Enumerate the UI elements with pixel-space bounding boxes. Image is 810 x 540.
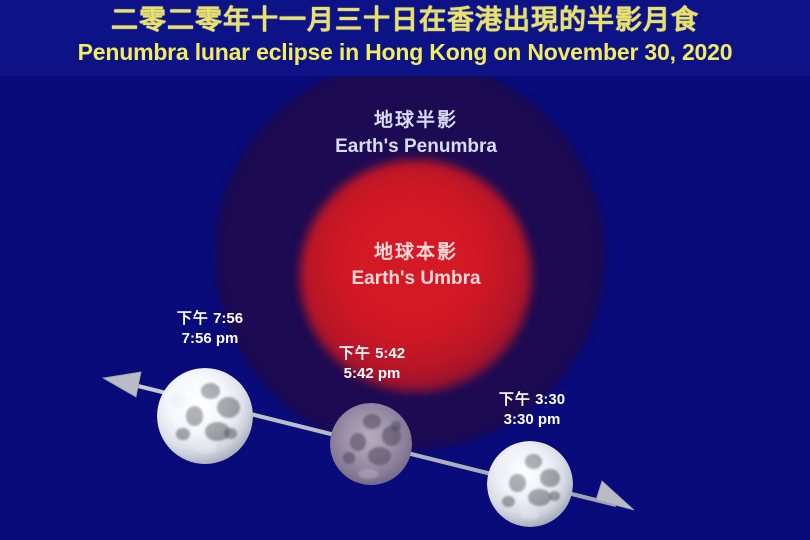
moon-illumination xyxy=(330,403,412,485)
title-band: 二零二零年十一月三十日在香港出現的半影月食 Penumbra lunar ecl… xyxy=(0,0,810,76)
eclipse-diagram: 地球半影 Earth's Penumbra 地球本影 Earth's Umbra… xyxy=(0,0,810,540)
page-title-zh: 二零二零年十一月三十日在香港出現的半影月食 xyxy=(0,0,810,37)
moon-disc-1956 xyxy=(157,368,253,464)
page-title-en: Penumbra lunar eclipse in Hong Kong on N… xyxy=(0,37,810,67)
moon-illumination xyxy=(487,441,573,527)
moon-disc-542 xyxy=(330,403,412,485)
moon-illumination xyxy=(157,368,253,464)
moon-disc-330 xyxy=(487,441,573,527)
arrowhead-left-icon xyxy=(103,372,141,397)
